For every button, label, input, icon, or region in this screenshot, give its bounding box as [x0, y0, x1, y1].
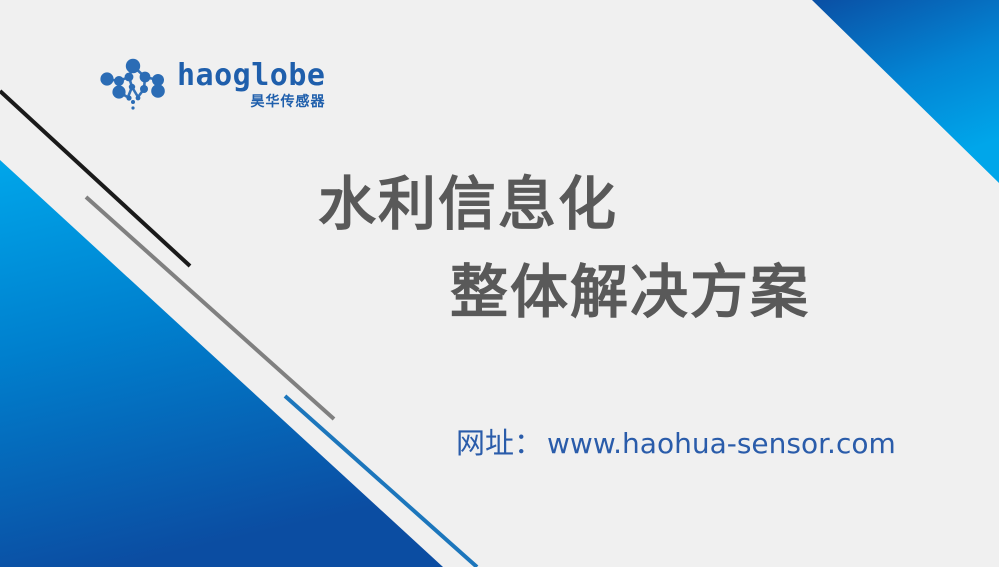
molecule-network-icon	[96, 57, 170, 115]
logo-text-group: haoglobe 昊华传感器	[177, 57, 326, 109]
company-logo: haoglobe 昊华传感器	[96, 57, 321, 119]
presentation-title-slide: haoglobe 昊华传感器 水利信息化 整体解决方案 网址： www.haoh…	[0, 0, 999, 567]
website-line: 网址： www.haohua-sensor.com	[456, 420, 896, 462]
title-line-2: 整体解决方案	[450, 248, 900, 336]
website-url[interactable]: www.haohua-sensor.com	[547, 427, 896, 460]
website-label: 网址：	[456, 420, 543, 462]
title-line-1: 水利信息化	[318, 160, 900, 248]
page-title: 水利信息化 整体解决方案	[300, 160, 900, 336]
logo-subtitle: 昊华传感器	[251, 95, 326, 109]
logo-wordmark: haoglobe	[177, 61, 326, 91]
